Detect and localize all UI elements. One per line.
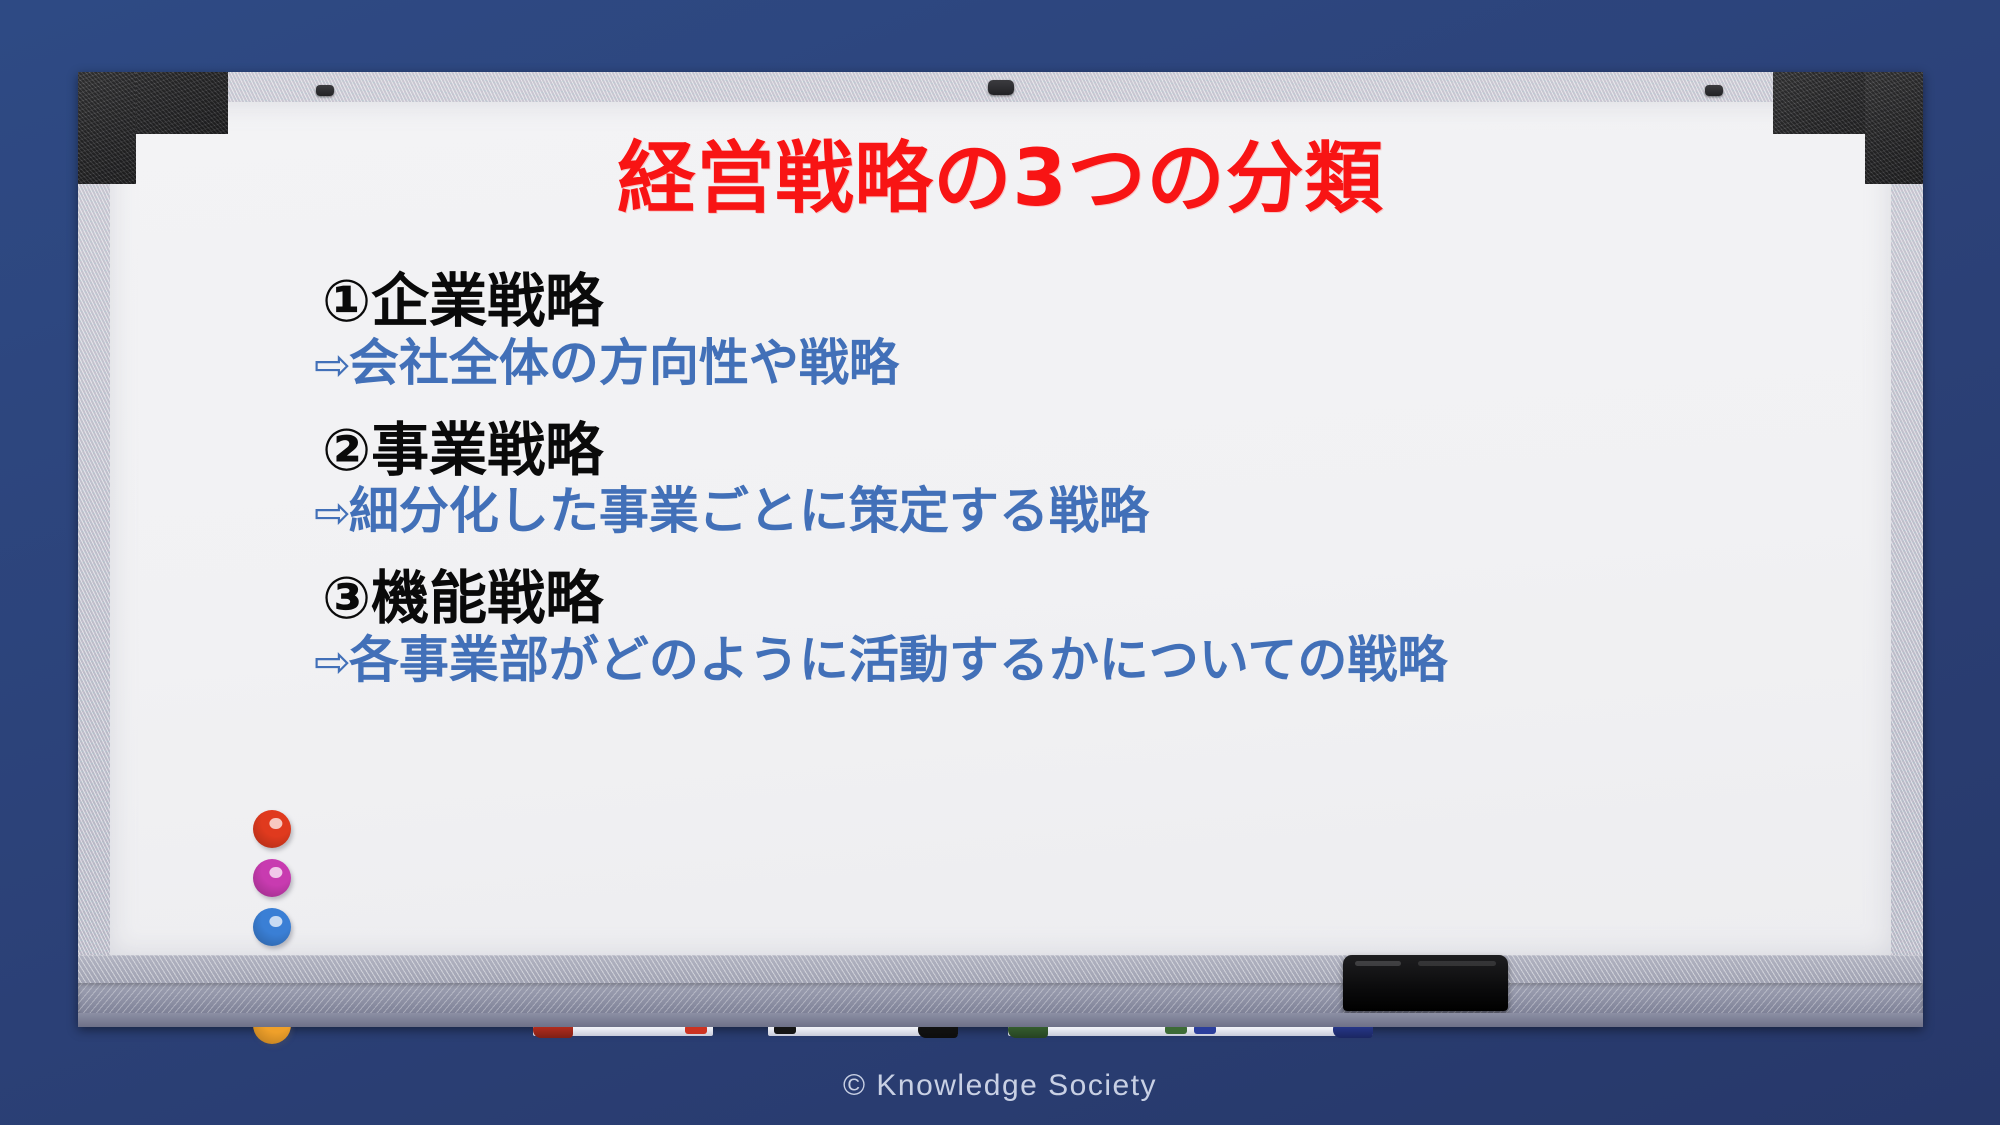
- pen-tray-shelf: [78, 983, 1923, 1015]
- item-1-heading: ①企業戦略: [322, 270, 1881, 333]
- frame-mount-clip-left-icon: [316, 85, 334, 96]
- magnet-blue[interactable]: [253, 908, 291, 946]
- classification-list: ①企業戦略 ⇨会社全体の方向性や戦略 ②事業戦略 ⇨細分化した事業ごとに策定する…: [322, 270, 1881, 688]
- list-item: ③機能戦略 ⇨各事業部がどのように活動するかについての戦略: [322, 567, 1881, 688]
- item-3-description-row: ⇨各事業部がどのように活動するかについての戦略: [314, 632, 1881, 688]
- slide: 経営戦略の3つの分類 ①企業戦略 ⇨会社全体の方向性や戦略 ②事業戦略 ⇨細分化…: [0, 0, 2000, 1125]
- right-arrow-icon: ⇨: [314, 637, 349, 688]
- pen-tray-lip: [78, 1013, 1923, 1027]
- right-arrow-icon: ⇨: [314, 340, 349, 391]
- item-2-heading: ②事業戦略: [322, 419, 1881, 482]
- item-3-description: 各事業部がどのように活動するかについての戦略: [349, 631, 1448, 689]
- list-item: ①企業戦略 ⇨会社全体の方向性や戦略: [322, 270, 1881, 391]
- magnet-red[interactable]: [253, 810, 291, 848]
- whiteboard: 経営戦略の3つの分類 ①企業戦略 ⇨会社全体の方向性や戦略 ②事業戦略 ⇨細分化…: [78, 72, 1923, 1027]
- board-content: 経営戦略の3つの分類 ①企業戦略 ⇨会社全体の方向性や戦略 ②事業戦略 ⇨細分化…: [110, 102, 1891, 955]
- item-2-description: 細分化した事業ごとに策定する戦略: [349, 482, 1149, 540]
- copyright-footer: © Knowledge Society: [0, 1069, 2000, 1103]
- item-1-description-row: ⇨会社全体の方向性や戦略: [314, 335, 1881, 391]
- right-arrow-icon: ⇨: [314, 488, 349, 539]
- magnet-magenta[interactable]: [253, 859, 291, 897]
- list-item: ②事業戦略 ⇨細分化した事業ごとに策定する戦略: [322, 419, 1881, 540]
- pen-tray: [78, 955, 1923, 1027]
- item-2-description-row: ⇨細分化した事業ごとに策定する戦略: [314, 483, 1881, 539]
- pen-tray-back: [78, 955, 1923, 986]
- eraser[interactable]: [1343, 955, 1508, 1011]
- frame-mount-clip-center-icon: [988, 80, 1014, 95]
- item-1-description: 会社全体の方向性や戦略: [349, 334, 899, 392]
- item-3-heading: ③機能戦略: [322, 567, 1881, 630]
- page-title: 経営戦略の3つの分類: [110, 140, 1891, 218]
- frame-mount-clip-right-icon: [1705, 85, 1723, 96]
